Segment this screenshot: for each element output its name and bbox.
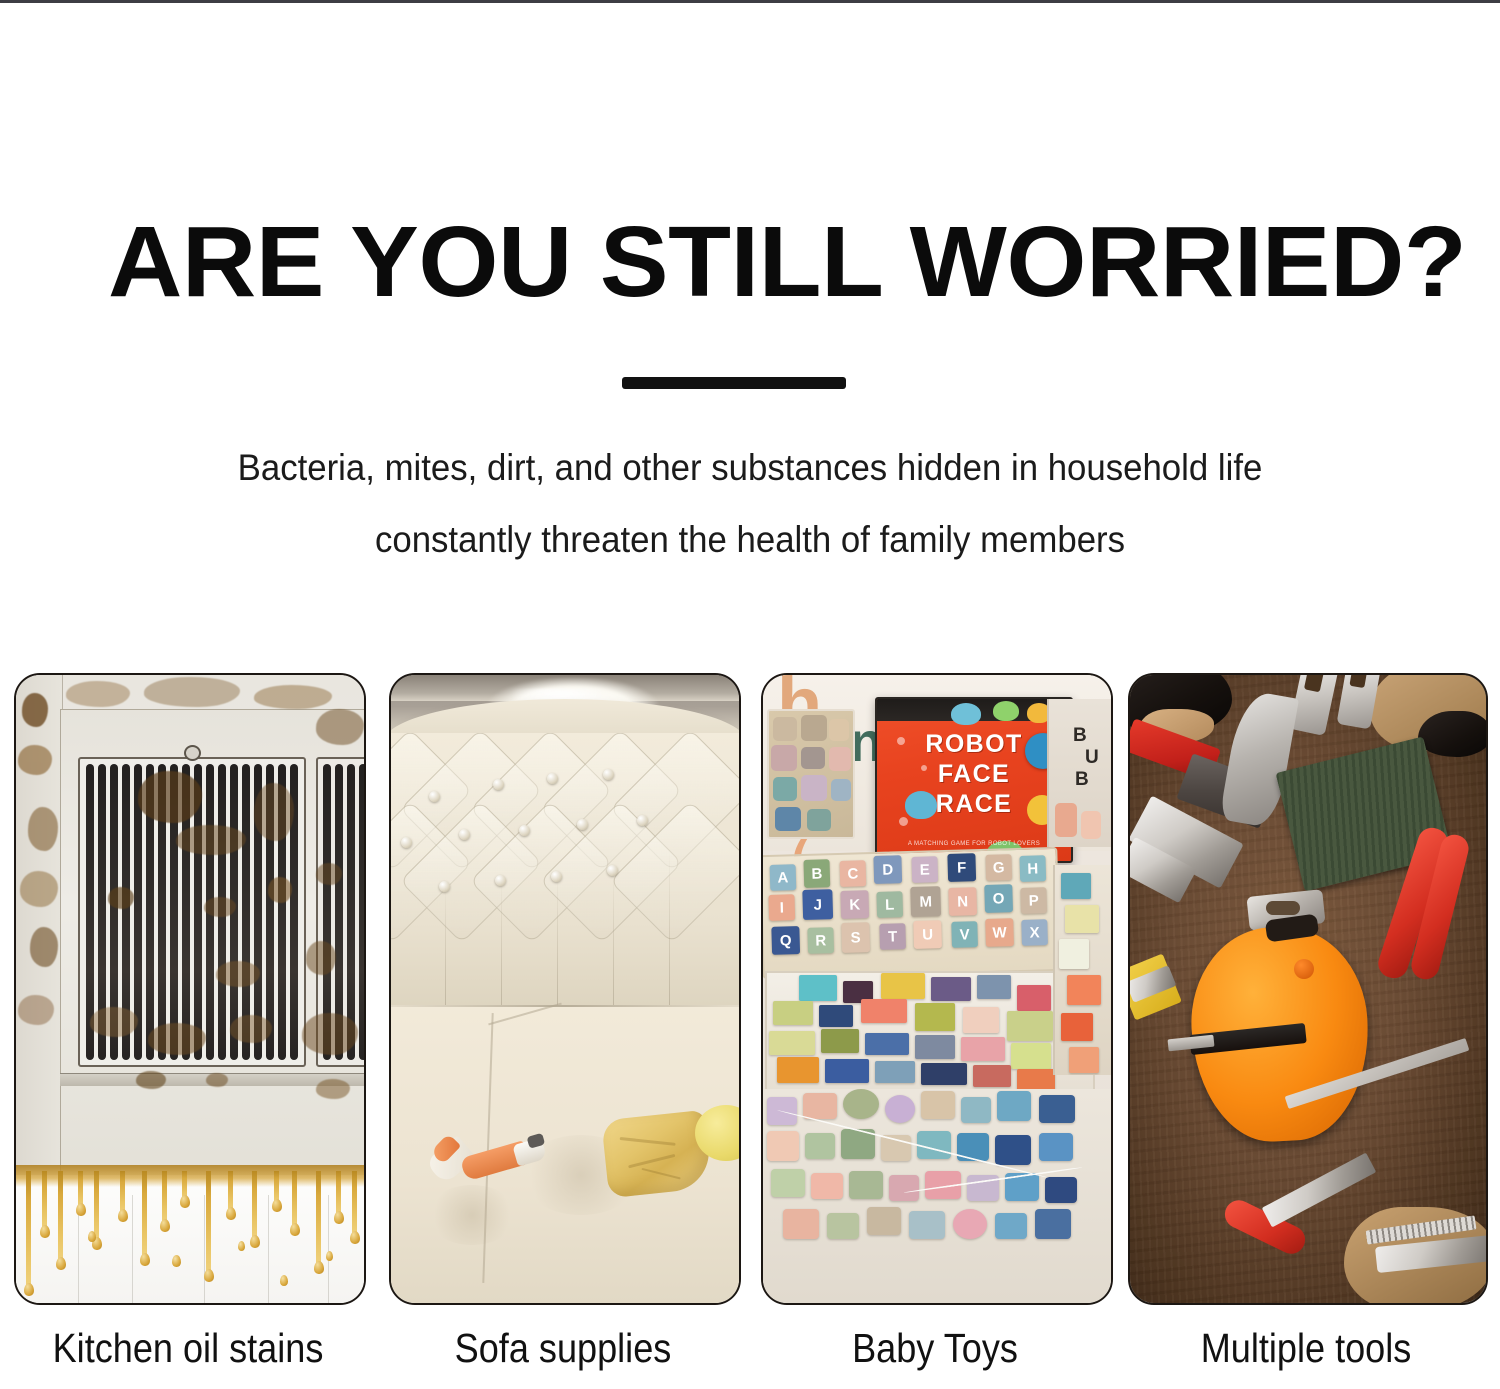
page-title: ARE YOU STILL WORRIED? bbox=[108, 207, 1499, 317]
sofa-backrest bbox=[391, 733, 739, 1005]
game-title-line-3: RACE bbox=[877, 791, 1071, 817]
counter-surface bbox=[16, 1175, 364, 1303]
alphabet-puzzle-tray: A B C D E F G H I J K L M N O P Q R S T bbox=[763, 847, 1061, 979]
photo-card-sofa-supplies bbox=[389, 673, 741, 1305]
letter-beads-tray bbox=[763, 1089, 1111, 1303]
shape-puzzle-panel bbox=[767, 709, 855, 839]
caption-baby-toys: Baby Toys bbox=[782, 1325, 1088, 1372]
top-edge-rule bbox=[0, 0, 1500, 3]
side-toy-panel bbox=[1053, 865, 1111, 1075]
board-letter-3: B bbox=[1075, 769, 1089, 791]
building-blocks-tray bbox=[765, 971, 1095, 1095]
caption-multiple-tools: Multiple tools bbox=[1149, 1325, 1462, 1372]
game-title-line-2: FACE bbox=[877, 761, 1071, 787]
subtitle-line-2: constantly threaten the health of family… bbox=[45, 519, 1455, 561]
baby-toys-photo: h n 7 bbox=[763, 675, 1111, 1303]
photo-card-multiple-tools bbox=[1128, 673, 1488, 1305]
photo-card-kitchen-oil-stains bbox=[14, 673, 366, 1305]
kitchen-hood-photo bbox=[16, 675, 364, 1303]
caption-kitchen-oil-stains: Kitchen oil stains bbox=[35, 1325, 341, 1372]
sofa-photo bbox=[391, 675, 739, 1303]
caption-sofa-supplies: Sofa supplies bbox=[410, 1325, 716, 1372]
game-title-line-1: ROBOT bbox=[877, 731, 1071, 757]
board-game-box: ROBOT FACE RACE A MATCHING GAME FOR ROBO… bbox=[875, 697, 1073, 863]
side-board: B U B bbox=[1047, 699, 1111, 847]
board-letter-1: B bbox=[1073, 725, 1087, 747]
subtitle-line-1: Bacteria, mites, dirt, and other substan… bbox=[45, 447, 1455, 489]
photo-card-baby-toys: h n 7 bbox=[761, 673, 1113, 1305]
photo-card-row: h n 7 bbox=[0, 673, 1500, 1301]
tools-photo bbox=[1130, 675, 1486, 1303]
title-divider bbox=[622, 377, 846, 389]
board-letter-2: U bbox=[1085, 747, 1099, 769]
game-subtitle: A MATCHING GAME FOR ROBOT LOVERS bbox=[877, 841, 1071, 847]
